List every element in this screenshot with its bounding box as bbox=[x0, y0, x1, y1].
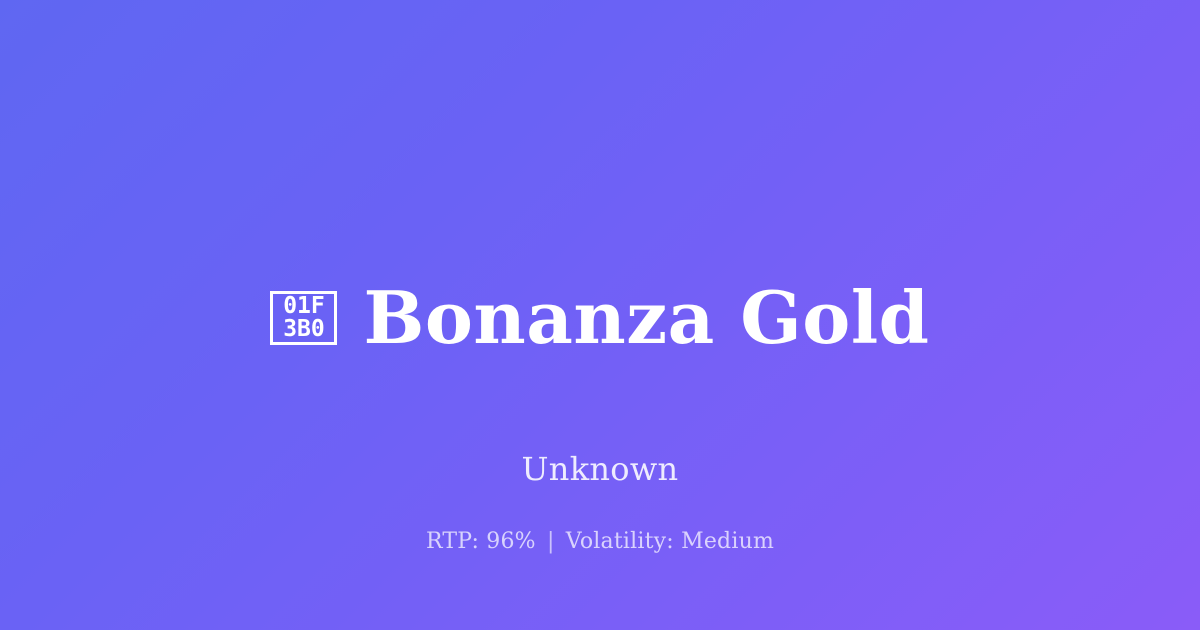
meta-separator: | bbox=[543, 529, 559, 554]
rtp-value: 96% bbox=[486, 529, 536, 554]
rtp-label: RTP: bbox=[426, 529, 479, 554]
hero-block: 01F 3B0 Bonanza Gold Unknown bbox=[0, 232, 1200, 488]
volatility-value: Medium bbox=[681, 529, 774, 554]
game-meta-line: RTP: 96% | Volatility: Medium bbox=[0, 529, 1200, 555]
page-title: Bonanza Gold bbox=[363, 280, 929, 356]
title-row: 01F 3B0 Bonanza Gold bbox=[270, 232, 929, 404]
tofu-hex-top: 01F bbox=[283, 295, 325, 318]
game-share-card: 01F 3B0 Bonanza Gold Unknown RTP: 96% | … bbox=[0, 0, 1200, 630]
game-provider: Unknown bbox=[522, 450, 679, 488]
slot-machine-icon: 01F 3B0 bbox=[270, 291, 337, 345]
volatility-label: Volatility: bbox=[566, 529, 674, 554]
tofu-hex-bottom: 3B0 bbox=[283, 318, 325, 341]
